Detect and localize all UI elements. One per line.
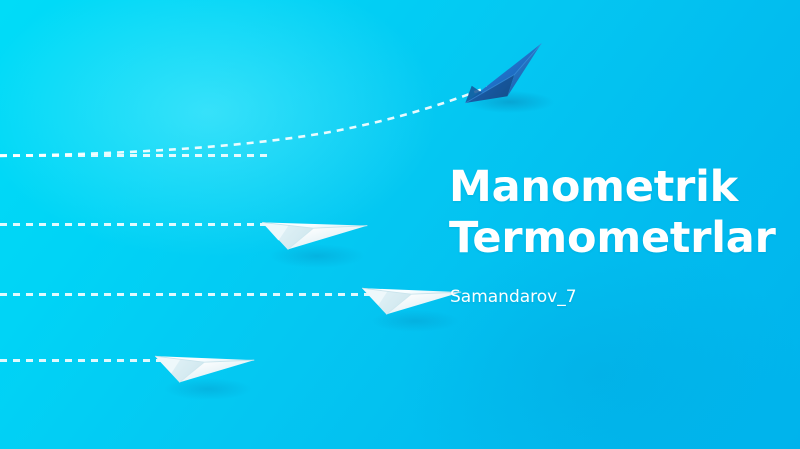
trail-line-3 (0, 293, 382, 296)
slide-title: Manometrik Termometrlar (449, 162, 779, 264)
trail-line-1 (0, 154, 268, 157)
trail-line-2 (0, 223, 272, 226)
blue-paper-plane (452, 28, 572, 120)
presentation-slide: Manometrik Termometrlar Samandarov_7 (0, 0, 800, 449)
slide-subtitle: Samandarov_7 (450, 286, 577, 308)
trail-line-4 (0, 359, 168, 362)
white-paper-plane-3 (150, 318, 262, 404)
title-line-1: Manometrik (449, 162, 779, 213)
title-line-2: Termometrlar (449, 213, 779, 264)
